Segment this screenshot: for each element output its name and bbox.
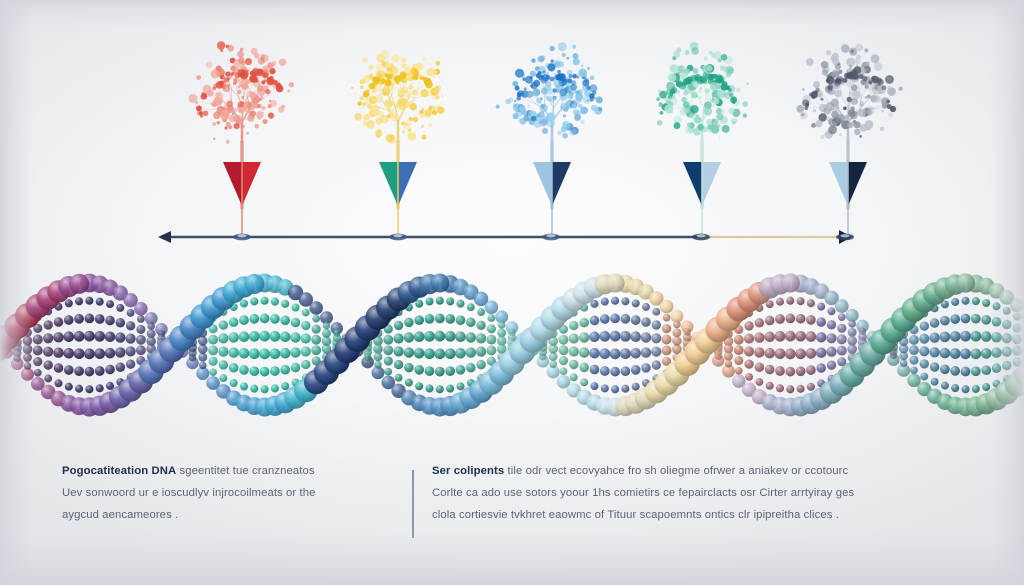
caption-left: Pogocatiteation DNA sgeentitet tue cranz… [62,460,384,526]
caption-right-line-2: Corlte ca ado use sotors yoour 1hs comie… [432,482,944,504]
caption-left-line-2: Uev sonwoord ur e ioscudlyv injrocoilmea… [62,482,384,504]
caption-divider [412,470,414,538]
caption-left-line-3: aygcud aencameores . [62,504,384,526]
caption-left-lead: Pogocatiteation DNA [62,465,176,477]
caption-right-lead: Ser colipents [432,465,504,477]
caption-right: Ser colipents tile odr vect ecovyahce fr… [432,460,944,526]
caption-right-line-3: clola cortiesvie tvkhret eaowmc of Tituu… [432,504,944,526]
figure-canvas: Pogocatiteation DNA sgeentitet tue cranz… [0,0,1024,585]
caption-left-line-1: sgeentitet tue cranzneatos [180,465,315,477]
caption-right-line-1: tile odr vect ecovyahce fro sh oliegme o… [508,465,849,477]
